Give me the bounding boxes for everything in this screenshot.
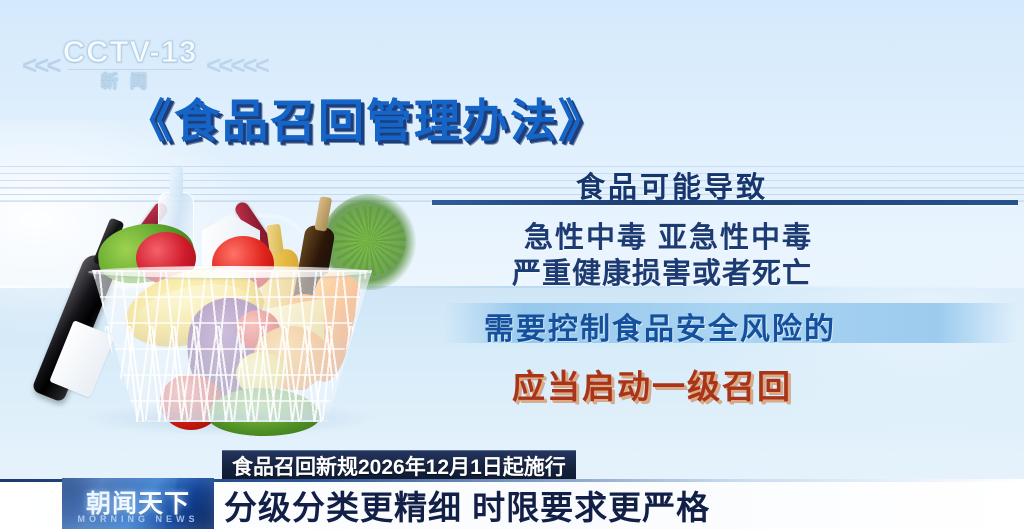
- chevron-left-icon: <<<: [22, 52, 59, 78]
- basket-rim: [88, 266, 372, 278]
- program-name-en: MORNING NEWS: [62, 514, 214, 524]
- program-logo: 朝闻天下 MORNING NEWS: [62, 478, 214, 529]
- action-text: 应当启动一级召回: [512, 360, 792, 408]
- page-title: 《食品召回管理办法》: [126, 98, 606, 144]
- chevron-right-icon: <<<<<: [206, 52, 267, 78]
- broadcast-screen: <<< <<<<< CCTV-13 新闻: [0, 0, 1024, 529]
- headline-text: 分级分类更精细 时限要求更严格: [224, 481, 710, 529]
- sub-banner: 食品召回新规2026年12月1日起施行: [222, 450, 576, 480]
- channel-watermark: <<< <<<<< CCTV-13 新闻: [0, 36, 430, 98]
- cctv-logo-rule: [68, 69, 192, 70]
- sub-banner-text: 食品召回新规2026年12月1日起施行: [232, 451, 566, 481]
- cctv-logo-sub: 新闻: [62, 73, 198, 90]
- cctv-logo: CCTV-13 新闻: [62, 36, 198, 90]
- divider-rule: [432, 200, 1018, 205]
- cctv-logo-main: CCTV-13: [62, 36, 198, 67]
- consequence-line-2: 严重健康损害或者死亡: [512, 250, 812, 292]
- condition-text: 需要控制食品安全风险的: [484, 304, 836, 348]
- basket-front-mesh: [98, 326, 360, 422]
- shopping-basket-illustration: [40, 176, 430, 466]
